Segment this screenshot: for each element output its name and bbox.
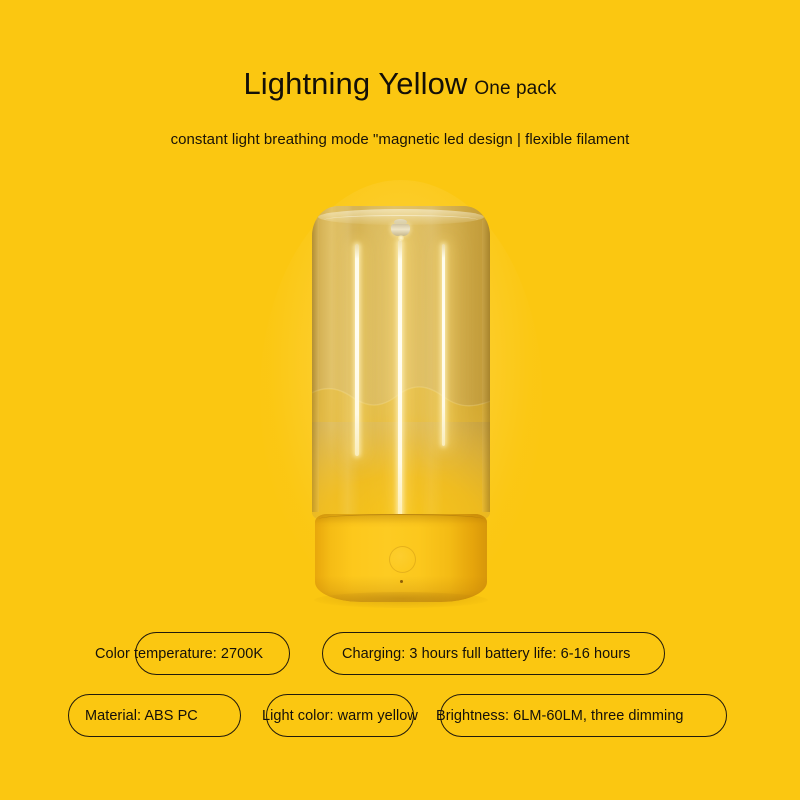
feature-label-light-color: Light color: warm yellow (262, 709, 418, 724)
led-filament-right (442, 244, 445, 446)
feature-label-color-temperature: Color temperature: 2700K (95, 647, 263, 662)
led-filament-center (398, 240, 402, 518)
power-button-icon[interactable] (389, 546, 416, 573)
pack-label: One pack (474, 78, 556, 99)
product-title: Lightning Yellow (243, 66, 467, 101)
product-lamp-image (312, 206, 490, 602)
product-image-canvas: Lightning YellowOne pack constant light … (0, 0, 800, 800)
feature-label-material: Material: ABS PC (85, 709, 198, 724)
feature-label-brightness: Brightness: 6LM-60LM, three dimming (436, 709, 684, 724)
base-seam-line (319, 514, 483, 524)
shade-right-edge (482, 220, 490, 512)
shade-left-edge (312, 220, 319, 512)
lamp-glass-shade (312, 206, 490, 520)
feature-label-charging: Charging: 3 hours full battery life: 6-1… (342, 647, 630, 662)
page-title: Lightning YellowOne pack (0, 66, 800, 102)
lamp-contact-shadow (314, 592, 488, 608)
product-subtitle: constant light breathing mode "magnetic … (0, 131, 800, 148)
lamp-base (315, 514, 487, 602)
led-filament-left (355, 244, 359, 456)
